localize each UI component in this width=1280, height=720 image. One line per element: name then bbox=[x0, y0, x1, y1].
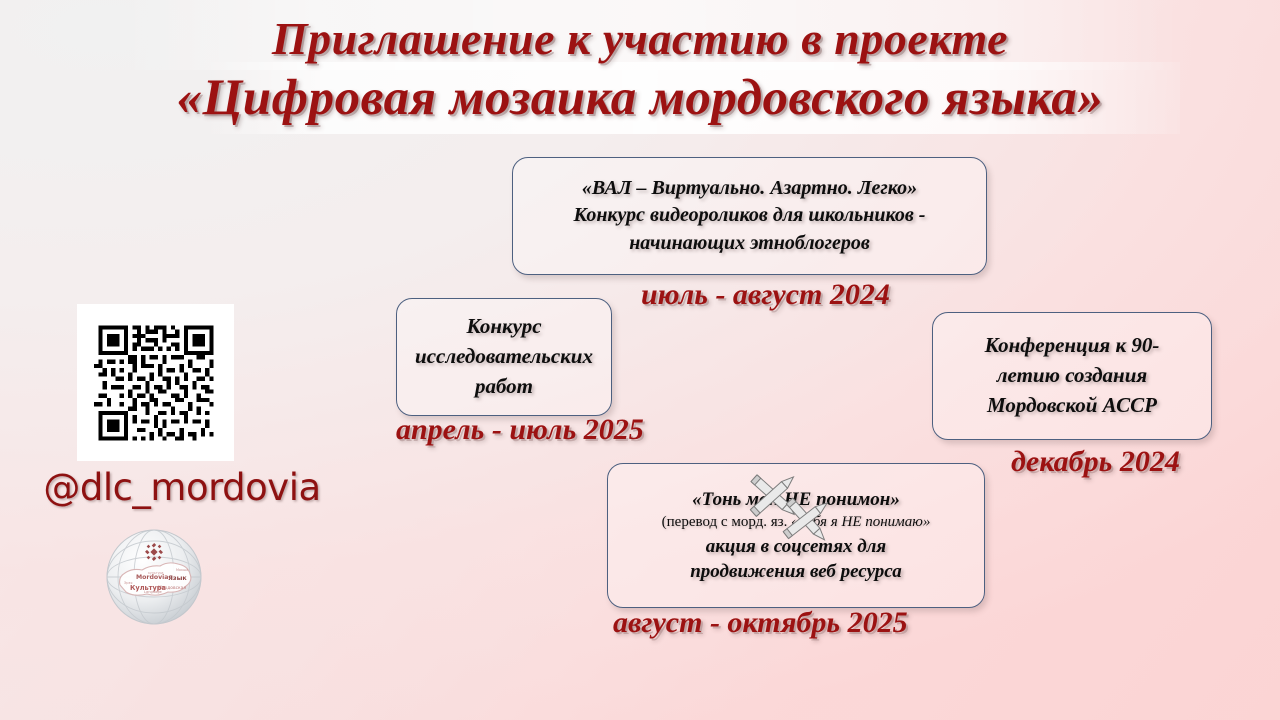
action-line-1-struck-word: НЕ bbox=[784, 487, 811, 512]
svg-text:Мордовская: Мордовская bbox=[158, 585, 186, 591]
svg-text:Language: Language bbox=[144, 590, 163, 594]
val-line-2: Конкурс видеороликов для школьников - bbox=[523, 202, 976, 230]
svg-text:культура: культура bbox=[148, 571, 163, 575]
date-caption-research: апрель - июль 2025 bbox=[396, 413, 644, 447]
action-line-1-suffix: понимон» bbox=[811, 489, 900, 510]
action-line-2-quote-open: «Тебя я bbox=[791, 514, 841, 530]
val-line-3: начинающих этноблогеров bbox=[523, 230, 976, 258]
page-title: Приглашение к участию в проекте «Цифрова… bbox=[0, 12, 1280, 128]
conference-line-1: Конференция к 90- bbox=[943, 331, 1201, 361]
project-box-research[interactable]: Конкурс исследовательских работ bbox=[396, 298, 612, 416]
svg-text:Мокша: Мокша bbox=[176, 568, 188, 572]
conference-line-3: Мордовской АССР bbox=[943, 391, 1201, 421]
project-logo[interactable]: Mordovia Язык Культура Мордовская Langua… bbox=[98, 521, 210, 633]
action-line-2: (перевод с морд. яз. «Тебя я НЕ понимаю» bbox=[618, 512, 974, 534]
date-caption-action: август - октябрь 2025 bbox=[613, 606, 908, 640]
svg-text:Эрзя: Эрзя bbox=[124, 581, 132, 585]
action-line-2-struck-word: НЕ bbox=[841, 512, 861, 534]
action-line-1: «Тонь мон НЕ понимон» bbox=[618, 487, 974, 512]
action-line-3: акция в соцсетях для bbox=[618, 534, 974, 559]
project-box-val[interactable]: «ВАЛ – Виртуально. Азартно. Легко» Конку… bbox=[512, 157, 987, 275]
action-line-1-prefix: «Тонь мон bbox=[692, 489, 784, 510]
conference-line-2: летию создания bbox=[943, 361, 1201, 391]
social-handle[interactable]: @dlc_mordovia bbox=[22, 466, 342, 509]
slide-canvas: Приглашение к участию в проекте «Цифрова… bbox=[0, 0, 1280, 720]
project-box-conference[interactable]: Конференция к 90- летию создания Мордовс… bbox=[932, 312, 1212, 440]
action-line-4: продвижения веб ресурса bbox=[618, 559, 974, 584]
title-line-1: Приглашение к участию в проекте bbox=[0, 12, 1280, 66]
qr-code[interactable] bbox=[77, 304, 234, 461]
svg-text:Mordovia: Mordovia bbox=[136, 574, 168, 581]
action-line-2-prefix: (перевод с морд. яз. bbox=[662, 514, 791, 530]
research-line-2: исследовательских bbox=[407, 342, 601, 372]
date-caption-conference: декабрь 2024 bbox=[1011, 445, 1180, 479]
svg-text:Язык: Язык bbox=[168, 574, 187, 582]
date-caption-val: июль - август 2024 bbox=[641, 278, 890, 312]
research-line-1: Конкурс bbox=[407, 312, 601, 342]
title-line-2: «Цифровая мозаика мордовского языка» bbox=[0, 68, 1280, 128]
project-box-action[interactable]: «Тонь мон НЕ понимон» (перевод с морд. я… bbox=[607, 463, 985, 608]
research-line-3: работ bbox=[407, 372, 601, 402]
action-line-2-quote-close: понимаю» bbox=[861, 514, 930, 530]
val-line-1: «ВАЛ – Виртуально. Азартно. Легко» bbox=[523, 175, 976, 203]
